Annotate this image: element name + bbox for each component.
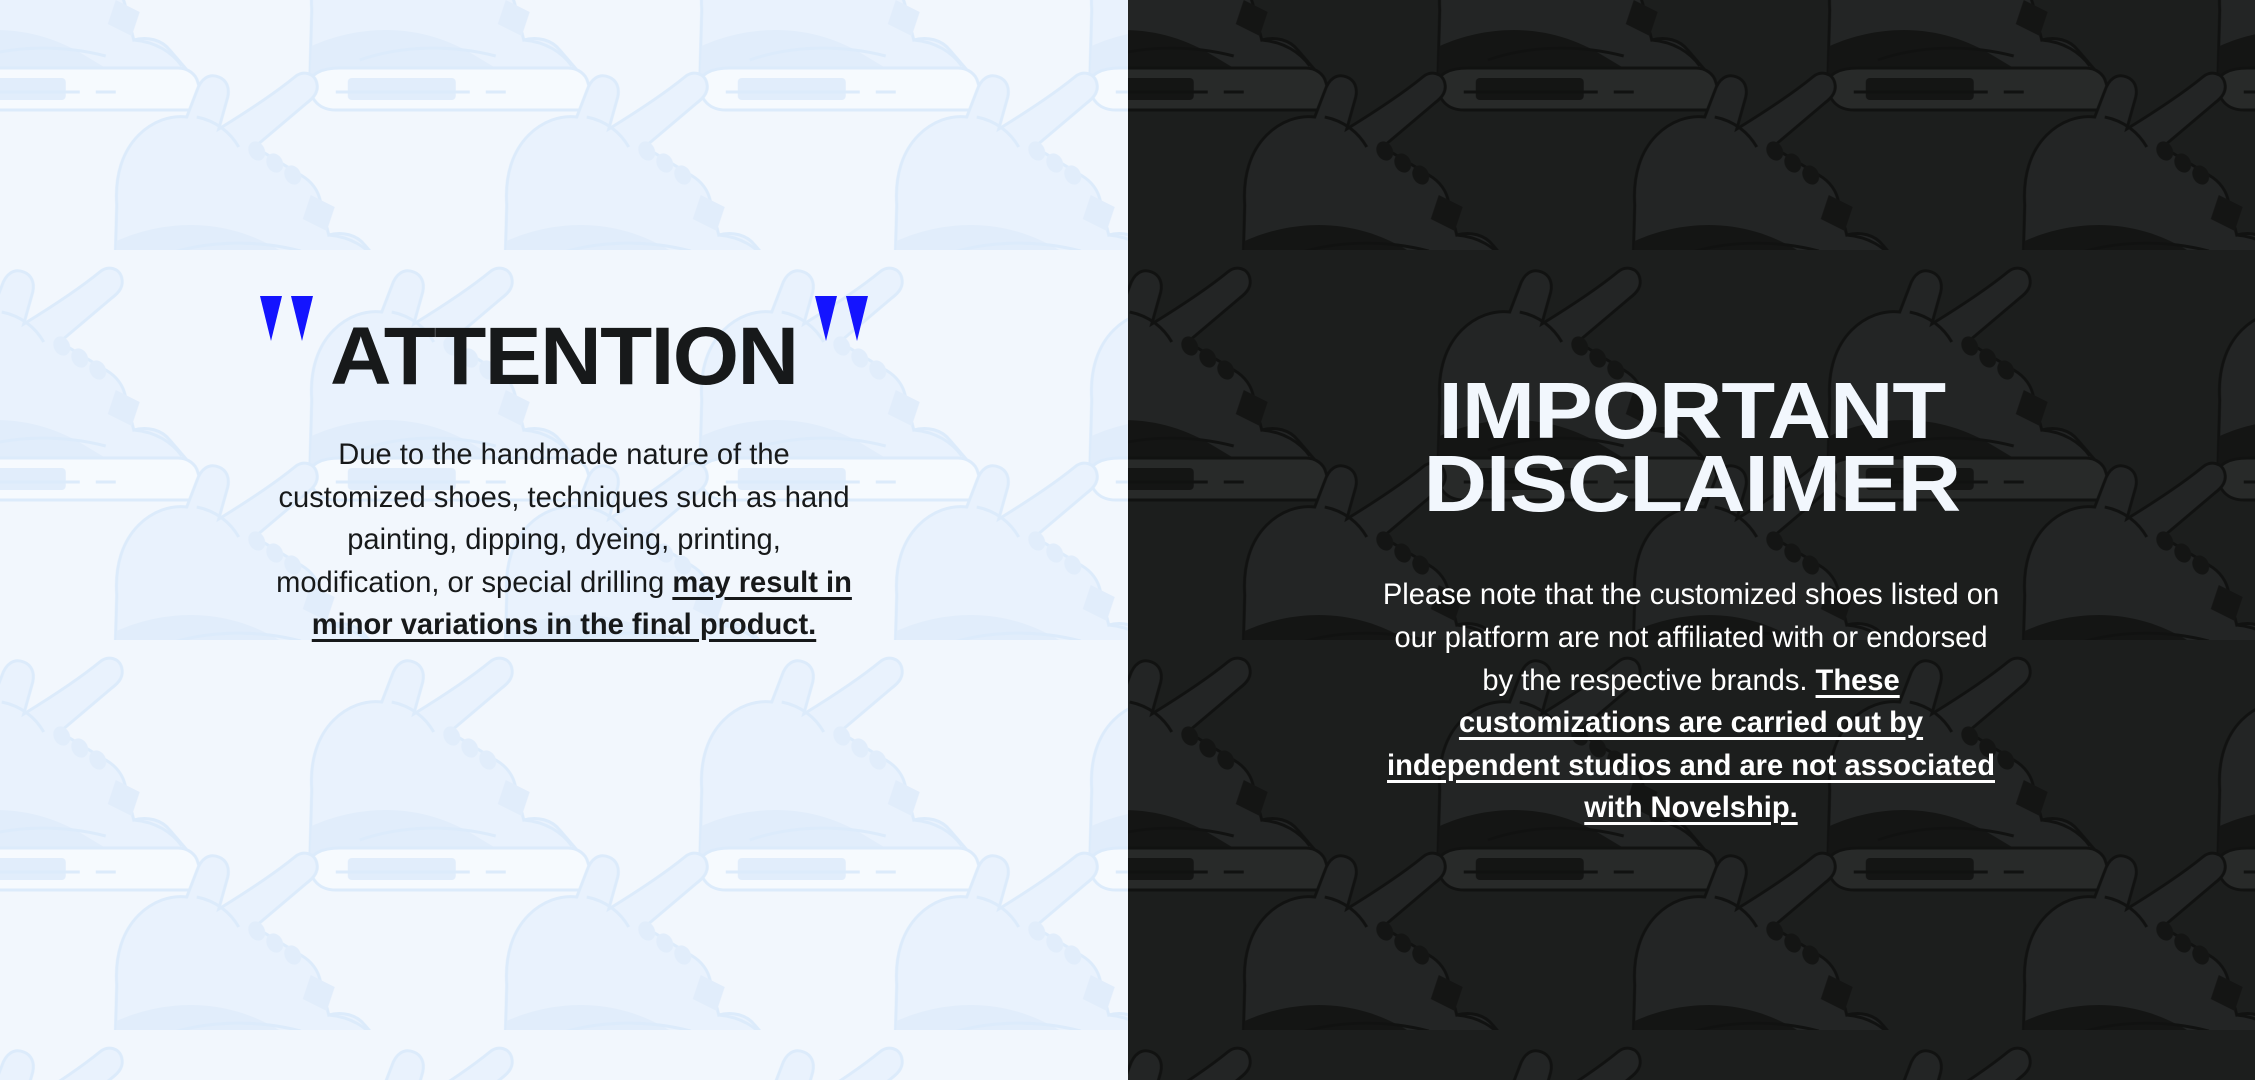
disclaimer-panel: IMPORTANT DISCLAIMER Please note that th…	[1128, 0, 2255, 1080]
disclaimer-heading: IMPORTANT DISCLAIMER	[1128, 374, 2255, 521]
double-exclamation-icon-left	[260, 343, 313, 375]
attention-heading-text: ATTENTION	[330, 316, 798, 398]
attention-heading: ATTENTION	[0, 316, 1128, 398]
double-exclamation-icon-right	[815, 343, 868, 375]
disclaimer-content: IMPORTANT DISCLAIMER Please note that th…	[1128, 0, 2255, 830]
attention-body: Due to the handmade nature of the custom…	[263, 434, 864, 647]
disclaimer-body-normal: Please note that the customized shoes li…	[1383, 578, 1999, 696]
disclaimer-banner: ATTENTION Due to the handmade nature of …	[0, 0, 2255, 1080]
disclaimer-heading-line-1: IMPORTANT	[1128, 374, 2255, 448]
disclaimer-heading-line-2: DISCLAIMER	[1128, 447, 2255, 521]
attention-panel: ATTENTION Due to the handmade nature of …	[0, 0, 1128, 1080]
disclaimer-body: Please note that the customized shoes li…	[1381, 574, 2002, 830]
attention-content: ATTENTION Due to the handmade nature of …	[0, 0, 1128, 647]
